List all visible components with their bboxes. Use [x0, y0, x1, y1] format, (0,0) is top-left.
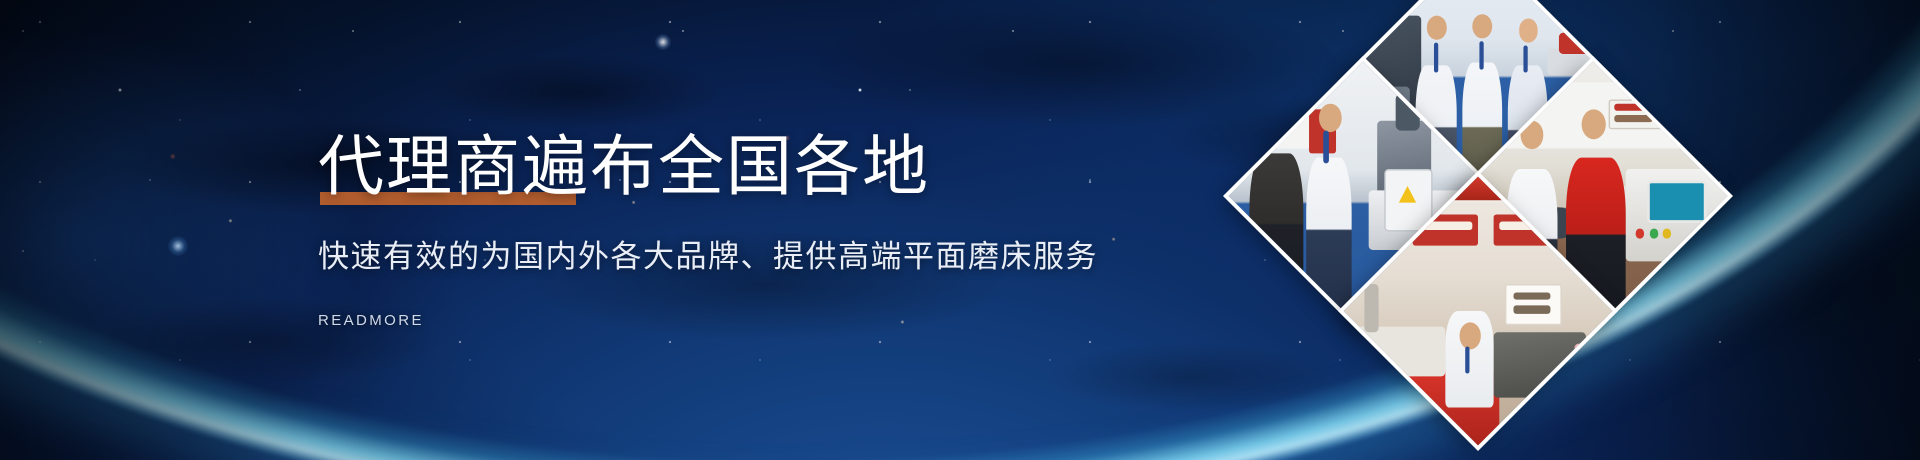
banner-subline: 快速有效的为国内外各大品牌、提供高端平面磨床服务 [318, 231, 1218, 276]
readmore-link[interactable]: READMORE [318, 312, 424, 329]
banner-headline: 代理商遍布全国各地 [318, 132, 930, 201]
diamond-photo-collage [1268, 0, 1688, 408]
headline-text: 代理商遍布全国各地 [318, 129, 930, 203]
banner-copy: 代理商遍布全国各地 快速有效的为国内外各大品牌、提供高端平面磨床服务 READM… [318, 132, 1218, 330]
hero-banner: 代理商遍布全国各地 快速有效的为国内外各大品牌、提供高端平面磨床服务 READM… [0, 0, 1920, 460]
